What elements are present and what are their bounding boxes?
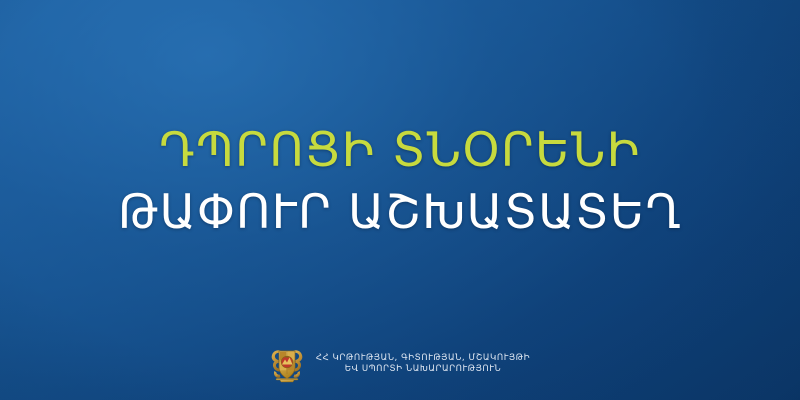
- armenia-coat-of-arms-icon: [270, 344, 304, 384]
- ministry-footer: ՀՀ ԿՐԹՈՒԹՅԱՆ, ԳԻՏՈՒԹՅԱՆ, ՄՇԱԿՈՒՅԹԻ ԵՎ ՍՊ…: [0, 336, 800, 392]
- ministry-name-line-1: ՀՀ ԿՐԹՈՒԹՅԱՆ, ԳԻՏՈՒԹՅԱՆ, ՄՇԱԿՈՒՅԹԻ: [316, 353, 530, 365]
- headline-block: ԴՊՐՈՑԻ ՏՆՕՐԵՆԻ ԹԱՓՈՒՐ ԱՇԽԱՏԱՏԵՂ: [0, 120, 800, 244]
- headline-line-primary: ԴՊՐՈՑԻ ՏՆՕՐԵՆԻ: [0, 120, 800, 182]
- announcement-banner: ԴՊՐՈՑԻ ՏՆՕՐԵՆԻ ԹԱՓՈՒՐ ԱՇԽԱՏԱՏԵՂ: [0, 0, 800, 400]
- ministry-name-line-2: ԵՎ ՍՊՈՐՏԻ ՆԱԽԱՐԱՐՈՒԹՅՈՒՆ: [316, 364, 530, 376]
- ministry-name-label: ՀՀ ԿՐԹՈՒԹՅԱՆ, ԳԻՏՈՒԹՅԱՆ, ՄՇԱԿՈՒՅԹԻ ԵՎ ՍՊ…: [316, 353, 530, 376]
- headline-line-secondary: ԹԱՓՈՒՐ ԱՇԽԱՏԱՏԵՂ: [0, 182, 800, 244]
